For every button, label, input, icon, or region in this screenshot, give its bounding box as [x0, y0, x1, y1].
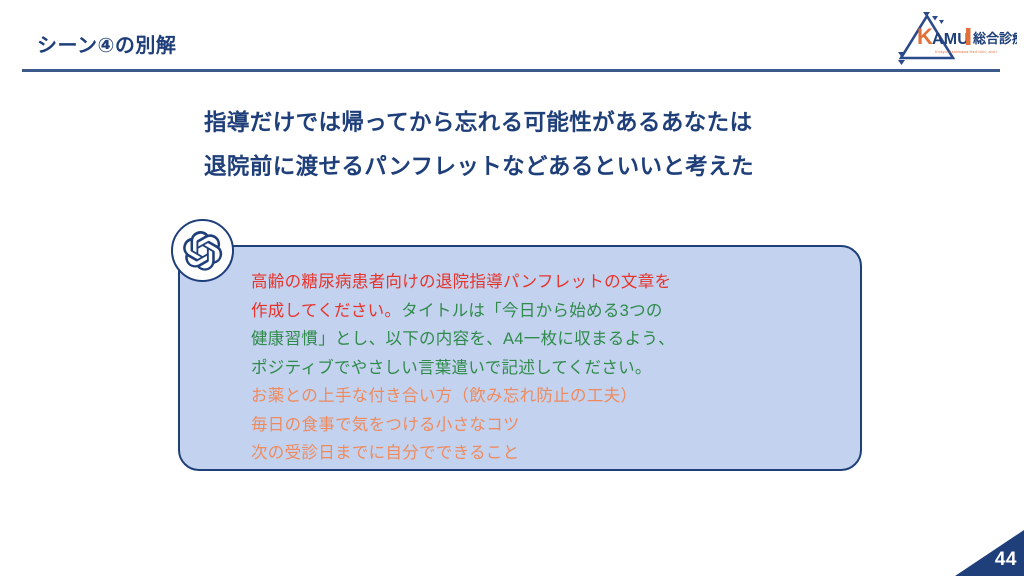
- prompt-line-7: 次の受診日までに自分でできること: [251, 439, 851, 468]
- arrow-up-small-icon: [932, 16, 938, 21]
- logo-letter-i: [966, 28, 971, 45]
- title-divider: [22, 69, 1000, 72]
- logo-letters-amu: AMU: [932, 31, 969, 48]
- arrow-up-tiny-icon: [939, 20, 944, 24]
- headline: 指導だけでは帰ってから忘れる可能性があるあなたは 退院前に渡せるパンフレットなど…: [204, 101, 754, 189]
- prompt-line-1: 高齢の糖尿病患者向けの退院指導パンフレットの文章を: [251, 268, 851, 297]
- prompt-line-2-red: 作成してください。: [251, 302, 401, 320]
- page-number: 44: [995, 549, 1017, 571]
- prompt-line-3: 健康習慣」とし、以下の内容を、A4一枚に収まるよう、: [251, 325, 851, 354]
- arrow-up-icon: [923, 12, 930, 17]
- logo-tagline: Kinkyu, Asahikawa Med Univ, and I: [935, 50, 997, 54]
- headline-line-1: 指導だけでは帰ってから忘れる可能性があるあなたは: [204, 101, 754, 145]
- arrow-down-icon-2: [898, 60, 905, 65]
- prompt-line-2-green: タイトルは「今日から始める3つの: [401, 302, 662, 320]
- chatgpt-avatar: [171, 219, 234, 282]
- page-title: シーン④の別解: [37, 29, 176, 58]
- prompt-line-6: 毎日の食事で気をつける小さなコツ: [251, 411, 851, 440]
- prompt-line-5: お薬との上手な付き合い方（飲み忘れ防止の工夫）: [251, 382, 851, 411]
- prompt-line-2: 作成してください。タイトルは「今日から始める3つの: [251, 297, 851, 326]
- prompt-bubble: 高齢の糖尿病患者向けの退院指導パンフレットの文章を 作成してください。タイトルは…: [178, 245, 862, 471]
- kamui-logo-mark: K AMU 総合診療 Kinkyu, Asahikawa Med Univ, a…: [893, 8, 1017, 66]
- prompt-text: 高齢の糖尿病患者向けの退院指導パンフレットの文章を 作成してください。タイトルは…: [251, 268, 851, 468]
- prompt-line-4: ポジティブでやさしい言葉遣いで記述してください。: [251, 354, 851, 383]
- kamui-logo: K AMU 総合診療 Kinkyu, Asahikawa Med Univ, a…: [893, 8, 1017, 66]
- headline-line-2: 退院前に渡せるパンフレットなどあるといいと考えた: [204, 145, 754, 189]
- logo-letter-k: K: [917, 24, 933, 49]
- chatgpt-logo-icon: [183, 231, 223, 271]
- slide-canvas: シーン④の別解 K AMU 総合診療 Kinkyu, Asahikawa Med…: [0, 0, 1024, 576]
- logo-text-jp: 総合診療: [972, 31, 1017, 46]
- page-number-corner: 44: [955, 530, 1024, 576]
